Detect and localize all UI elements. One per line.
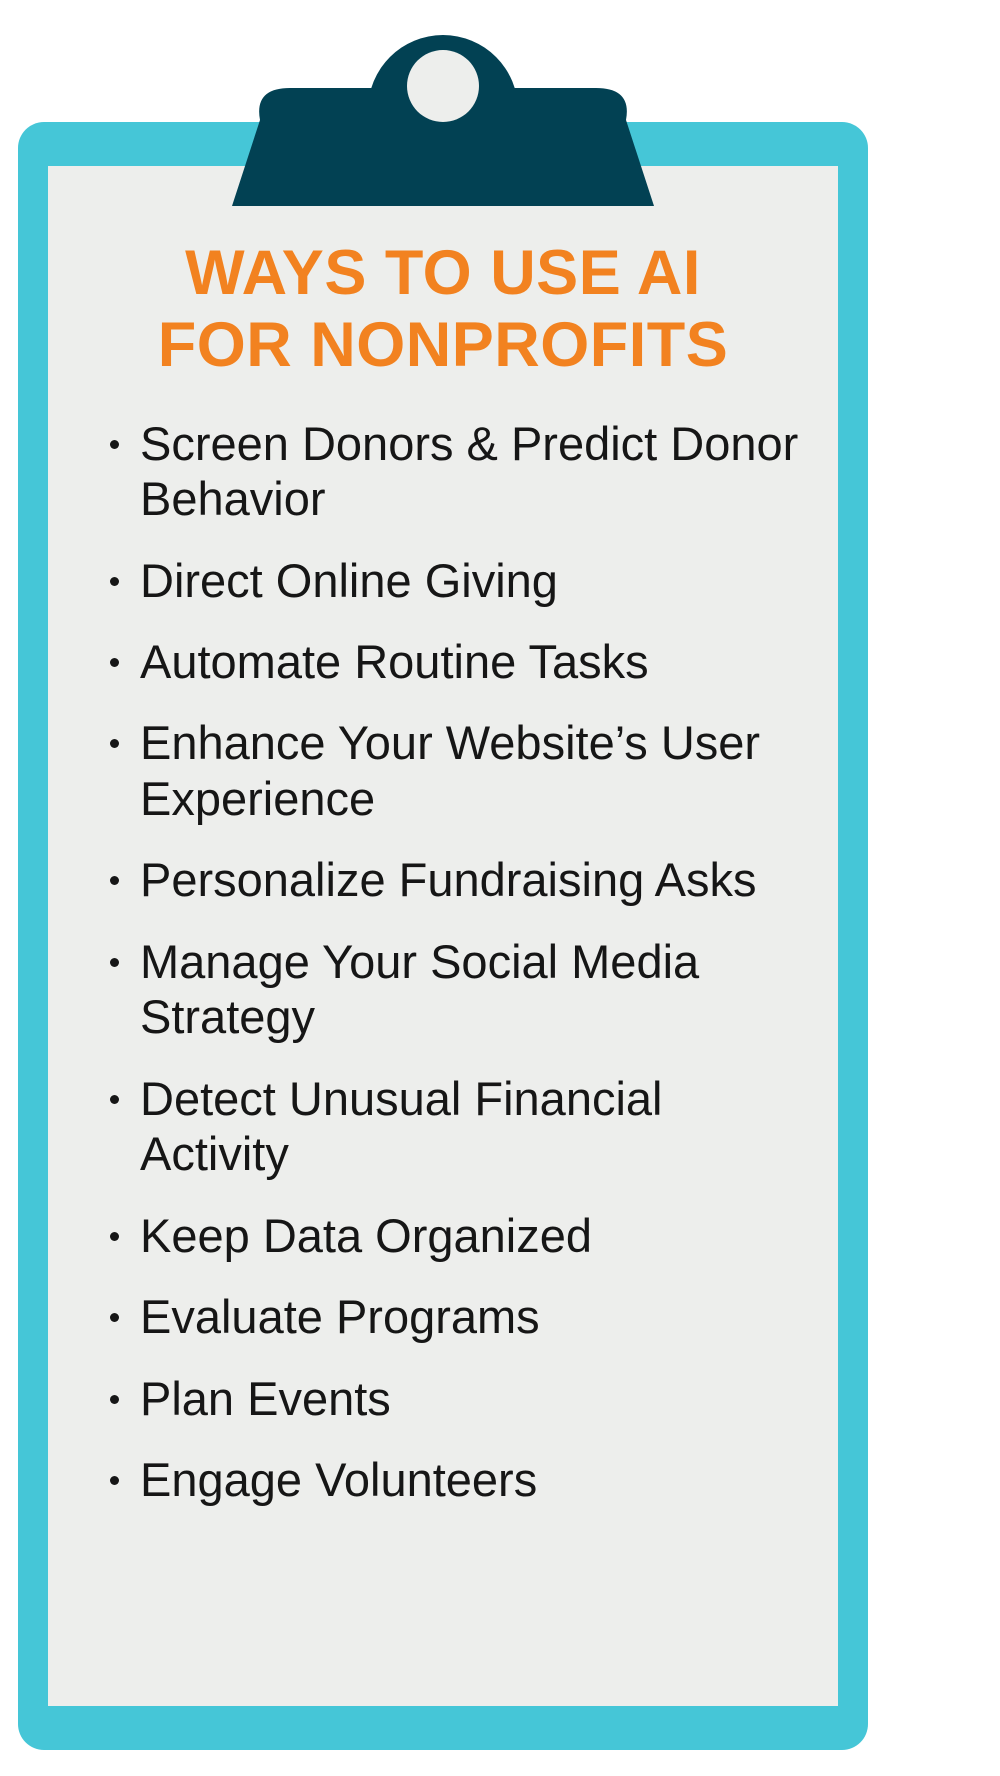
- bullet-icon: [110, 658, 119, 667]
- bullet-icon: [110, 876, 119, 885]
- bullet-icon: [110, 1095, 119, 1104]
- list-item: Enhance Your Website’s User Experience: [108, 715, 808, 826]
- list-item: Personalize Fundraising Asks: [108, 852, 808, 907]
- list-item-label: Enhance Your Website’s User Experience: [140, 715, 808, 826]
- bullet-icon: [110, 958, 119, 967]
- list-item: Screen Donors & Predict Donor Behavior: [108, 416, 808, 527]
- bullet-icon: [110, 1313, 119, 1322]
- list-item: Plan Events: [108, 1371, 808, 1426]
- bullet-icon: [110, 577, 119, 586]
- list-item-label: Detect Unusual Financial Activity: [140, 1071, 808, 1182]
- list-item: Keep Data Organized: [108, 1208, 808, 1263]
- page-title: WAYS TO USE AI FOR NONPROFITS: [78, 238, 808, 382]
- infographic-content: WAYS TO USE AI FOR NONPROFITS Screen Don…: [48, 166, 838, 1706]
- list-item: Manage Your Social Media Strategy: [108, 934, 808, 1045]
- list-item: Direct Online Giving: [108, 553, 808, 608]
- list-item-label: Evaluate Programs: [140, 1289, 808, 1344]
- list-item-label: Automate Routine Tasks: [140, 634, 808, 689]
- list-item-label: Screen Donors & Predict Donor Behavior: [140, 416, 808, 527]
- list-item-label: Manage Your Social Media Strategy: [140, 934, 808, 1045]
- list-item-label: Direct Online Giving: [140, 553, 808, 608]
- list-item: Automate Routine Tasks: [108, 634, 808, 689]
- bullet-icon: [110, 739, 119, 748]
- ways-list: Screen Donors & Predict Donor Behavior D…: [78, 416, 808, 1508]
- list-item: Engage Volunteers: [108, 1452, 808, 1507]
- clip-hole-icon: [407, 50, 479, 122]
- list-item-label: Keep Data Organized: [140, 1208, 808, 1263]
- title-line-2: FOR NONPROFITS: [78, 310, 808, 382]
- bullet-icon: [110, 1232, 119, 1241]
- infographic-canvas: WAYS TO USE AI FOR NONPROFITS Screen Don…: [0, 0, 1000, 1776]
- list-item: Detect Unusual Financial Activity: [108, 1071, 808, 1182]
- list-item-label: Engage Volunteers: [140, 1452, 808, 1507]
- bullet-icon: [110, 440, 119, 449]
- list-item: Evaluate Programs: [108, 1289, 808, 1344]
- bullet-icon: [110, 1395, 119, 1404]
- list-item-label: Plan Events: [140, 1371, 808, 1426]
- list-item-label: Personalize Fundraising Asks: [140, 852, 808, 907]
- bullet-icon: [110, 1476, 119, 1485]
- title-line-1: WAYS TO USE AI: [78, 238, 808, 310]
